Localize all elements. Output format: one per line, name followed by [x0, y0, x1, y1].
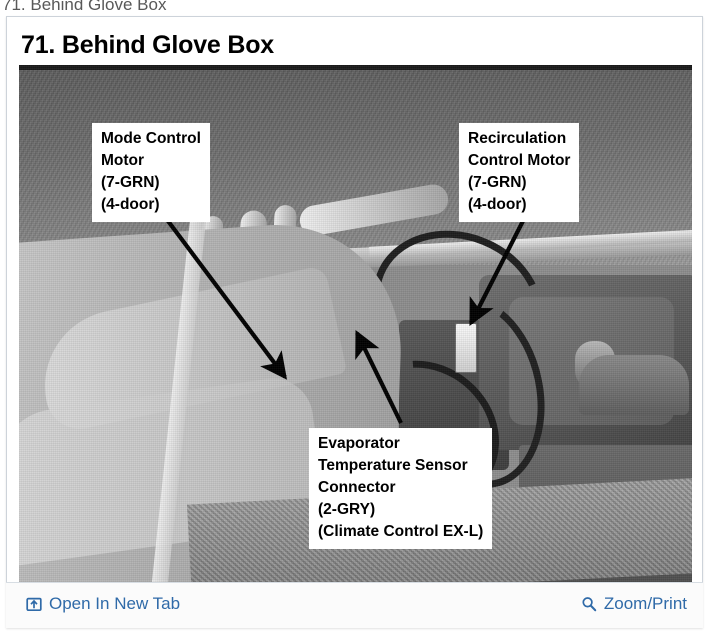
open-in-new-tab-label: Open In New Tab	[49, 594, 180, 614]
page-heading-clip: 71. Behind Glove Box	[0, 0, 711, 16]
photo-scene: Mode Control Motor (7-GRN) (4-door) Reci…	[19, 65, 692, 582]
page-title-clipped: 71. Behind Glove Box	[2, 0, 166, 15]
page-root: 71. Behind Glove Box 71. Behind Glove Bo…	[0, 0, 711, 635]
photo-top-edge	[19, 65, 692, 70]
open-in-new-tab-icon	[26, 596, 42, 612]
magnifier-icon	[581, 596, 597, 612]
blower-motor-cover	[579, 355, 689, 415]
zoom-print-link[interactable]: Zoom/Print	[581, 594, 687, 614]
callout-mode-control-motor: Mode Control Motor (7-GRN) (4-door)	[92, 123, 210, 222]
content-card: 71. Behind Glove Box	[6, 16, 703, 628]
recirculation-motor-connector	[455, 323, 477, 373]
diagram-photo[interactable]: Mode Control Motor (7-GRN) (4-door) Reci…	[19, 65, 692, 582]
callout-evaporator-temperature-sensor-connector: Evaporator Temperature Sensor Connector …	[309, 428, 492, 549]
open-in-new-tab-link[interactable]: Open In New Tab	[26, 594, 180, 614]
card-title: 71. Behind Glove Box	[21, 31, 274, 60]
callout-recirculation-control-motor: Recirculation Control Motor (7-GRN) (4-d…	[459, 123, 579, 222]
zoom-print-label: Zoom/Print	[604, 594, 687, 614]
footer-bar: Open In New Tab Zoom/Print	[6, 582, 703, 628]
